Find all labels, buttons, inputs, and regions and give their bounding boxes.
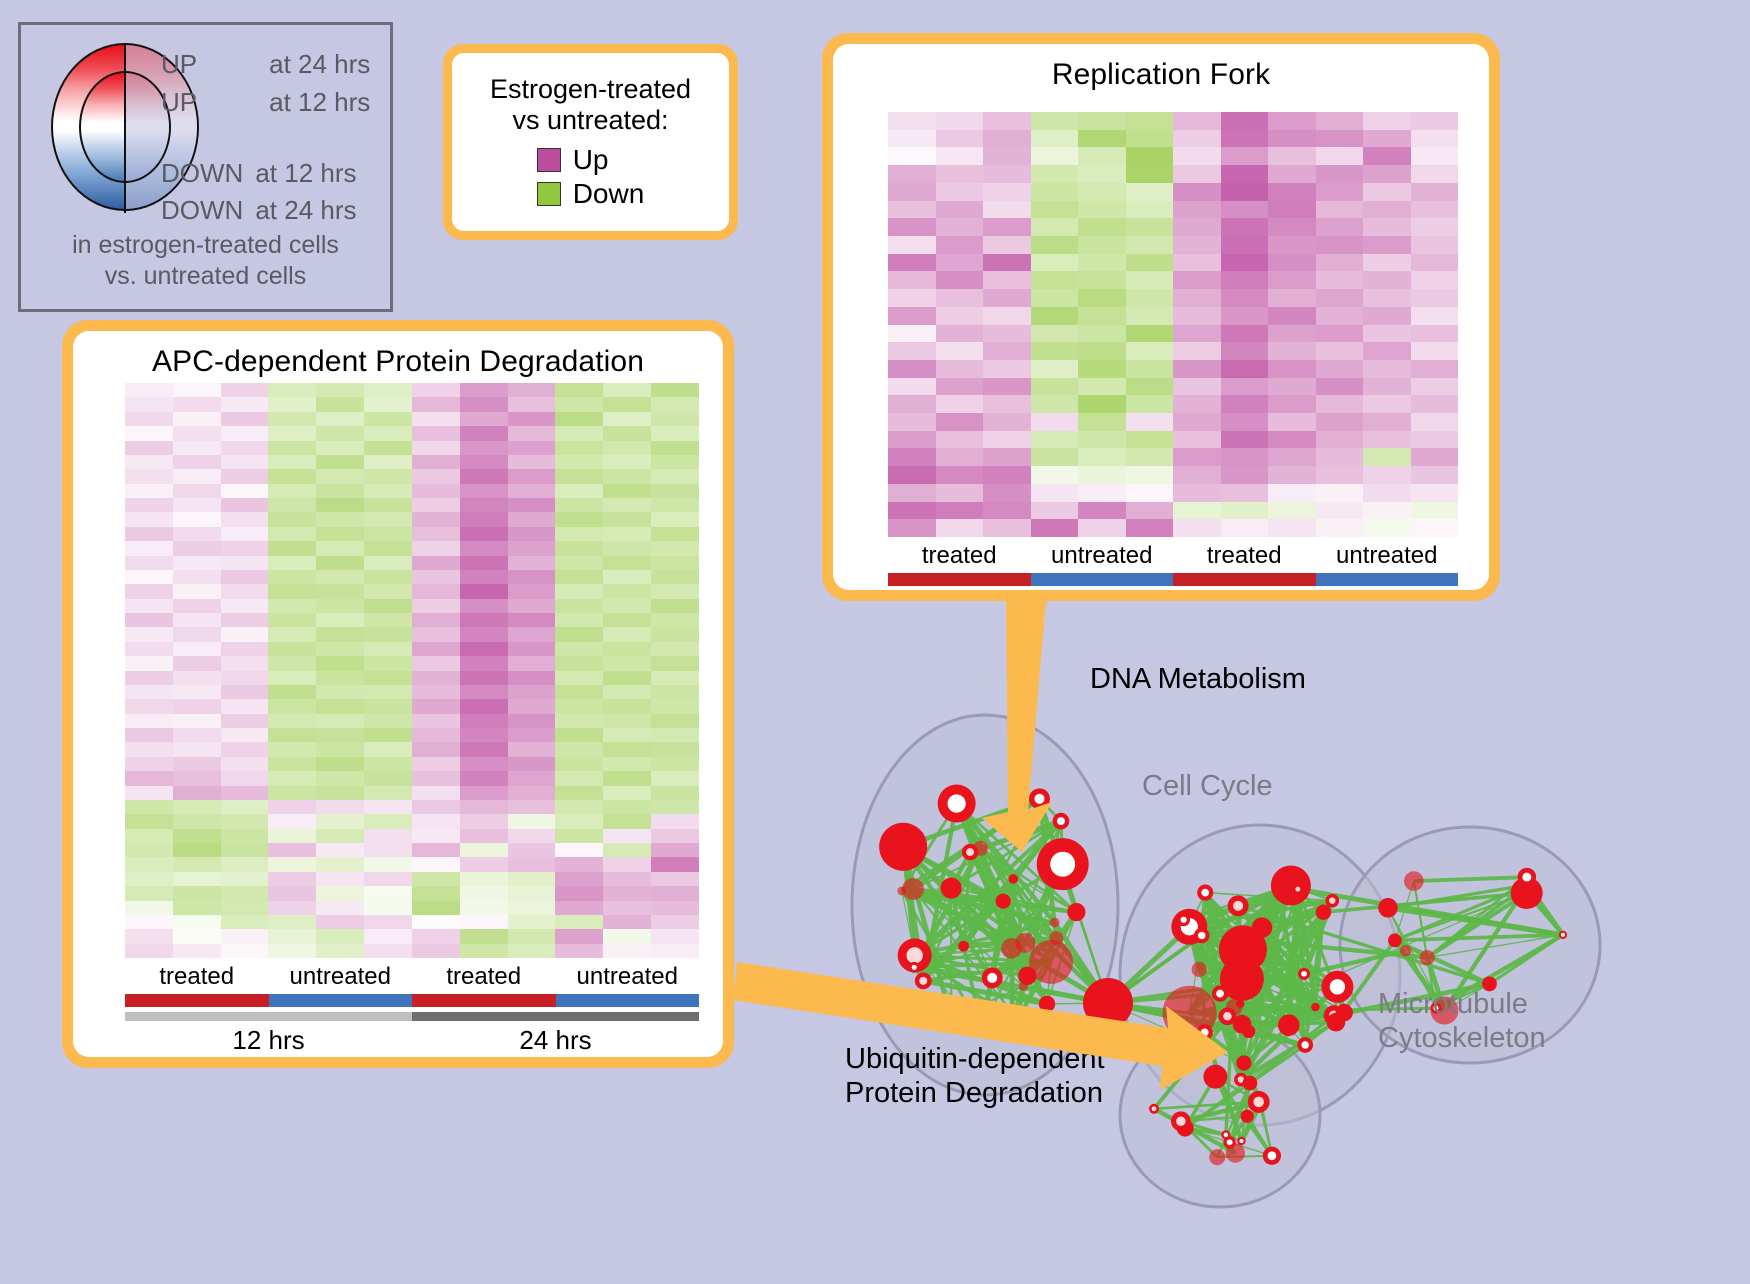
heatmap-cell [125,656,173,670]
heatmap-cell [1268,183,1316,201]
network-node [1008,874,1018,884]
heatmap-cell [364,426,412,440]
network-node-core [1268,1151,1277,1160]
heatmap-cell [1221,130,1269,148]
heatmap-cell [603,627,651,641]
network-node-core [1181,917,1187,923]
heatmap-cell [1173,342,1221,360]
heatmap-cell [508,455,556,469]
network-node-core [1301,1041,1309,1049]
heatmap-cell [316,498,364,512]
heatmap-cell [221,944,269,958]
wheel-row-down-12: DOWNat 12 hrs [161,158,357,189]
heatmap-cell [412,484,460,498]
network-node [902,878,924,900]
heatmap-cell [268,426,316,440]
network-node [1404,871,1424,891]
network-node-core [1224,1133,1228,1137]
heatmap-cell [1411,413,1459,431]
heatmap-cell [508,915,556,929]
heatmap-cell [268,556,316,570]
heatmap-cell [460,872,508,886]
heatmap-cell [173,699,221,713]
heatmap-cell [1221,360,1269,378]
heatmap-cell [316,570,364,584]
heatmap-cell [1126,502,1174,520]
heatmap-cell [555,397,603,411]
heatmap-cell [1221,254,1269,272]
heatmap-cell [651,512,699,526]
heatmap-cell [173,498,221,512]
network-node [1336,1004,1353,1021]
network-node-core [1050,852,1075,877]
heatmap-cell [1031,342,1079,360]
heatmap-cell [603,556,651,570]
heatmap-cell [936,502,984,520]
heatmap-cell [221,685,269,699]
heatmap-cell [508,556,556,570]
heatmap-cell [460,498,508,512]
heatmap-cell [888,395,936,413]
network-node-core [1522,873,1531,882]
heatmap-cell [651,872,699,886]
heatmap-cell [1268,360,1316,378]
heatmap-cell [364,642,412,656]
heatmap-cell [364,397,412,411]
heatmap-cell [603,699,651,713]
heatmap-cell [173,843,221,857]
heatmap-cell [888,466,936,484]
heatmap-cell [412,771,460,785]
heatmap-cell [508,886,556,900]
heatmap-cell [364,484,412,498]
heatmap-cell [983,307,1031,325]
heatmap-cell [603,814,651,828]
heatmap-cell [460,613,508,627]
heatmap-cell [1268,466,1316,484]
updown-legend-title: Estrogen-treated vs untreated: [490,74,691,136]
heatmap-cell [364,929,412,943]
sample-color-bar-apc [125,994,699,1007]
heatmap-cell [125,944,173,958]
heatmap-cell [364,886,412,900]
heatmap-cell [125,455,173,469]
heatmap-cell [936,448,984,466]
network-node-core [919,977,927,985]
heatmap-cell [1363,289,1411,307]
heatmap-cell [1268,254,1316,272]
sample-group-label: treated [1173,542,1316,570]
heatmap-cell [508,441,556,455]
network-node-core [1329,897,1336,904]
heatmap-cell [603,843,651,857]
heatmap-cell [412,599,460,613]
heatmap-cell [1363,413,1411,431]
heatmap-cell [316,857,364,871]
heatmap-cell [268,455,316,469]
heatmap-cell [460,383,508,397]
sample-labels-rf: treateduntreatedtreateduntreated [888,542,1458,570]
heatmap-cell [555,541,603,555]
heatmap-cell [1268,271,1316,289]
heatmap-cell [221,915,269,929]
heatmap-cell [1126,112,1174,130]
heatmap-cell [1221,165,1269,183]
heatmap-cell [1363,201,1411,219]
heatmap-cell [125,512,173,526]
heatmap-cell [1411,201,1459,219]
heatmap-cell [1316,130,1364,148]
heatmap-cell [508,944,556,958]
network-node-core [1201,1028,1209,1036]
heatmap-cell [1316,342,1364,360]
heatmap-cell [268,584,316,598]
heatmap-cell [603,642,651,656]
sample-group-label: treated [125,963,269,991]
heatmap-cell [1316,201,1364,219]
heatmap-cell [316,714,364,728]
heatmap-cell [412,800,460,814]
network-node [1083,978,1133,1028]
heatmap-cell [1221,183,1269,201]
heatmap-cell [268,613,316,627]
heatmap-cell [651,944,699,958]
heatmap-cell [268,656,316,670]
heatmap-cell [412,584,460,598]
heatmap-cell [1173,395,1221,413]
heatmap-cell [173,886,221,900]
heatmap-cell [1078,466,1126,484]
heatmap-cell [268,512,316,526]
heatmap-cell [936,519,984,537]
heatmap-cell [221,570,269,584]
heatmap-cell [364,512,412,526]
heatmap-cell [1126,165,1174,183]
heatmap-cell [316,383,364,397]
heatmap-cell [221,426,269,440]
network-node [1018,967,1036,985]
heatmap-cell [508,469,556,483]
heatmap-cell [1173,484,1221,502]
heatmap-cell [1173,378,1221,396]
heatmap-cell [1078,448,1126,466]
heatmap-cell [364,699,412,713]
heatmap-cell [412,944,460,958]
heatmap-cell [1126,307,1174,325]
heatmap-cell [508,383,556,397]
network-svg [790,615,1750,1279]
heatmap-cell [173,929,221,943]
heatmap-cell [555,757,603,771]
heatmap-cell [125,814,173,828]
heatmap-cell [983,271,1031,289]
heatmap-cell [1411,112,1459,130]
panel-replication-fork-inner: Replication Fork treateduntreatedtreated… [833,44,1489,590]
heatmap-cell [412,426,460,440]
heatmap-cell [1221,147,1269,165]
heatmap-cell [555,613,603,627]
heatmap-cell [316,642,364,656]
heatmap-cell [173,642,221,656]
heatmap-cell [221,412,269,426]
heatmap-cell [460,742,508,756]
heatmap-cell [268,599,316,613]
heatmap-cell [555,426,603,440]
heatmap-cell [1268,519,1316,537]
network-node [1388,933,1402,947]
heatmap-cell [1268,342,1316,360]
heatmap-cell [125,771,173,785]
heatmap-cell [316,786,364,800]
heatmap-cell [316,627,364,641]
heatmap-cell [173,656,221,670]
heatmap-cell [173,872,221,886]
heatmap-cell [316,901,364,915]
heatmap-cell [364,901,412,915]
heatmap-cell [603,570,651,584]
heatmap-cell [888,307,936,325]
network-node-core [1152,1106,1157,1111]
heatmap-cell [125,857,173,871]
heatmap-cell [936,466,984,484]
heatmap-cell [1316,165,1364,183]
heatmap-cell [316,541,364,555]
heatmap-cell [460,671,508,685]
heatmap-cell [412,728,460,742]
heatmap-cell [603,886,651,900]
heatmap-cell [1078,218,1126,236]
heatmap-cell [1078,342,1126,360]
heatmap-cell [1173,325,1221,343]
heatmap-cell [460,441,508,455]
heatmap-cell [221,484,269,498]
up-swatch-icon [537,148,561,172]
heatmap-cell [412,872,460,886]
heatmap-cell [316,556,364,570]
sample-color-bar-rf [888,573,1458,586]
heatmap-cell [173,800,221,814]
heatmap-cell [555,412,603,426]
heatmap-cell [125,498,173,512]
heatmap-cell [364,671,412,685]
heatmap-cell [1031,360,1079,378]
heatmap-cell [1268,307,1316,325]
heatmap-cell [125,929,173,943]
heatmap-cell [173,901,221,915]
heatmap-cell [1173,218,1221,236]
sample-group-label: untreated [1031,542,1174,570]
heatmap-cell [364,584,412,598]
heatmap-cell [983,112,1031,130]
heatmap-cell [125,556,173,570]
heatmap-cell [364,455,412,469]
heatmap-cell [1411,342,1459,360]
heatmap-cell [1411,130,1459,148]
heatmap-cell [412,412,460,426]
heatmap-cell [1173,431,1221,449]
heatmap-cell [460,397,508,411]
heatmap-cell [651,829,699,843]
heatmap-cell [888,431,936,449]
heatmap-cell [508,800,556,814]
legend-item-up: Up [537,144,645,176]
heatmap-cell [125,728,173,742]
heatmap-cell [364,944,412,958]
heatmap-cell [555,671,603,685]
heatmap-cell [555,800,603,814]
heatmap-cell [651,843,699,857]
heatmap-cell [316,929,364,943]
heatmap-cell [268,857,316,871]
heatmap-cell [173,527,221,541]
heatmap-cell [460,901,508,915]
heatmap-cell [268,469,316,483]
heatmap-cell [173,484,221,498]
heatmap-cell [651,627,699,641]
heatmap-cell [555,771,603,785]
heatmap-cell [364,627,412,641]
heatmap-cell [316,656,364,670]
heatmap-cell [173,455,221,469]
heatmap-cell [1221,466,1269,484]
color-wheel-legend: UPat 24 hrs UPat 12 hrs DOWNat 12 hrs DO… [18,22,393,312]
heatmap-cell [603,512,651,526]
heatmap-cell [316,512,364,526]
heatmap-cell [1031,466,1079,484]
heatmap-cell [1316,519,1364,537]
heatmap-cell [651,455,699,469]
heatmap-cell [412,857,460,871]
heatmap-cell [1316,147,1364,165]
heatmap-cell [316,771,364,785]
heatmap-cell [460,541,508,555]
heatmap-cell [651,527,699,541]
heatmap-cell [555,728,603,742]
heatmap-cell [888,236,936,254]
heatmap-cell [412,843,460,857]
heatmap-cell [1363,254,1411,272]
heatmap-cell [1363,378,1411,396]
heatmap-cell [1221,502,1269,520]
heatmap-cell [268,498,316,512]
heatmap-cell [221,469,269,483]
network-node [1049,931,1063,945]
heatmap-cell [460,929,508,943]
heatmap-cell [983,254,1031,272]
heatmap-cell [364,469,412,483]
heatmap-cell [412,929,460,943]
heatmap-cell [364,786,412,800]
heatmap-cell [412,886,460,900]
heatmap-cell [888,147,936,165]
heatmap-cell [508,613,556,627]
heatmap-cell [1221,307,1269,325]
network-node [1050,918,1060,928]
heatmap-cell [1078,360,1126,378]
heatmap-cell [173,426,221,440]
heatmap-cell [460,800,508,814]
heatmap-cell [603,944,651,958]
heatmap-cell [508,627,556,641]
heatmap-cell [460,771,508,785]
heatmap-cell [555,570,603,584]
heatmap-cell [555,742,603,756]
heatmap-cell [508,484,556,498]
sample-group-bar [1316,573,1459,586]
heatmap-cell [1411,395,1459,413]
time-group-label: 24 hrs [412,1025,699,1056]
heatmap-cell [125,901,173,915]
heatmap-cell [508,527,556,541]
heatmap-cell [1411,236,1459,254]
heatmap-cell [603,527,651,541]
heatmap-cell [364,383,412,397]
network-node [1278,1014,1300,1036]
heatmap-cell [1363,147,1411,165]
heatmap-cell [460,814,508,828]
heatmap-cell [1316,236,1364,254]
heatmap-cell [268,901,316,915]
heatmap-cell [603,857,651,871]
heatmap-cell [268,929,316,943]
wheel-caption: in estrogen-treated cells vs. untreated … [21,230,390,291]
heatmap-cell [555,886,603,900]
heatmap-cell [555,383,603,397]
heatmap-cell [1363,307,1411,325]
heatmap-cell [1363,484,1411,502]
heatmap-cell [460,570,508,584]
heatmap-cell [173,512,221,526]
heatmap-cell [603,786,651,800]
network-node-core [1561,933,1565,937]
sample-group-label: untreated [556,963,700,991]
heatmap-cell [983,289,1031,307]
time-color-bar-apc [125,1012,699,1021]
heatmap-cell [555,843,603,857]
heatmap-cell [508,901,556,915]
heatmap-cell [460,728,508,742]
heatmap-cell [983,342,1031,360]
network-node [1241,1110,1254,1123]
heatmap-cell [983,130,1031,148]
heatmap-cell [936,342,984,360]
heatmap-cell [888,254,936,272]
time-group-label: 12 hrs [125,1025,412,1056]
sample-group-bar [556,994,700,1007]
heatmap-cell [1126,201,1174,219]
heatmap-cell [1316,395,1364,413]
heatmap-cell [888,183,936,201]
network-node-core [1198,932,1205,939]
heatmap-cell [936,165,984,183]
heatmap-cell [173,599,221,613]
heatmap-cell [1221,271,1269,289]
heatmap-cell [1268,413,1316,431]
heatmap-cell [983,466,1031,484]
heatmap-cell [1078,271,1126,289]
heatmap-cell [888,325,936,343]
heatmap-cell [983,431,1031,449]
heatmap-cell [1173,448,1221,466]
heatmap-cell [936,112,984,130]
heatmap-cell [1221,519,1269,537]
heatmap-cell [1126,395,1174,413]
heatmap-cell [125,800,173,814]
heatmap-cell [268,527,316,541]
time-group-bar [125,1012,412,1021]
heatmap-cell [1078,201,1126,219]
heatmap-cell [936,183,984,201]
